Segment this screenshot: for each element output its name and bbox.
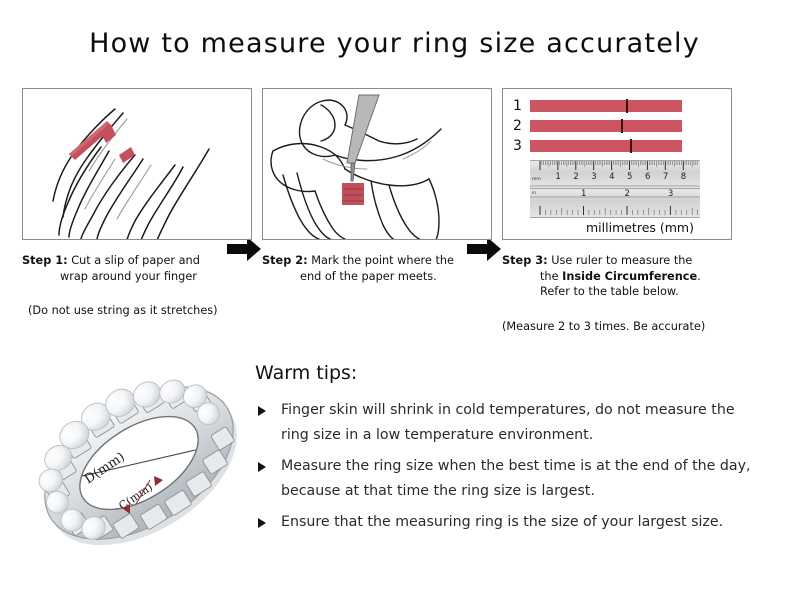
ruler-cm-number: 4 [609,173,614,182]
step-3-line2-strong: Inside Circumference [562,270,697,283]
ruler-inch-tag: in [532,191,536,196]
strip-bar [530,100,682,112]
strip-mark [626,99,628,113]
strip-row: 1 [513,98,725,114]
strip-number: 2 [513,118,530,134]
strip-row: 2 [513,118,725,134]
step-3-lead: Step 3: [502,254,548,267]
warm-tips-title: Warm tips: [255,362,765,384]
tip-text: Ensure that the measuring ring is the si… [281,514,723,530]
step-3-note: (Measure 2 to 3 times. Be accurate) [502,319,734,334]
warm-tips-section: Warm tips: Finger skin will shrink in co… [255,362,765,541]
steps-row: Step 1: Cut a slip of paper and wrap aro… [0,88,789,338]
step-3-line2-pre: the [540,270,562,283]
ruler-ticks [530,160,700,216]
step-2-line1: Mark the point where the [308,254,454,267]
ruler-illustration: 12345678 123 mm in [530,160,700,216]
ring-diagram: D(mm) C(mm) [24,358,254,573]
marked-paper-band-shape [342,183,364,205]
strip-bar [530,120,682,132]
tip-item: Ensure that the measuring ring is the si… [255,510,765,535]
ruler-cm-number: 3 [591,173,596,182]
page-title: How to measure your ring size accurately [0,28,789,59]
triangle-bullet-icon [258,518,266,528]
step-2-caption: Step 2: Mark the point where the end of … [262,253,494,284]
ruler-mm-tag: mm [532,177,541,182]
tip-item: Measure the ring size when the best time… [255,454,765,504]
measured-strips-group: 1 2 3 [513,98,725,158]
strip-mark [621,119,623,133]
ruler-cm-number: 7 [663,173,668,182]
tip-item: Finger skin will shrink in cold temperat… [255,398,765,448]
strip-number: 1 [513,98,530,114]
ruler-cm-number: 8 [681,173,686,182]
step-1-caption: Step 1: Cut a slip of paper and wrap aro… [22,253,254,284]
step-3-column: 1 2 3 [502,88,734,334]
step-1-note: (Do not use string as it stretches) [22,303,254,318]
step-1-line2: wrap around your finger [22,269,254,285]
step-1-panel [22,88,252,240]
tip-text: Measure the ring size when the best time… [281,458,751,499]
ruler-cm-number: 6 [645,173,650,182]
strip-row: 3 [513,138,725,154]
step-2-line2: end of the paper meets. [262,269,494,285]
eternity-ring-illustration: D(mm) C(mm) [24,358,254,573]
strip-mark [630,139,632,153]
strip-number: 3 [513,138,530,154]
ruler-inch-number: 3 [668,190,673,199]
step-1-lead: Step 1: [22,254,68,267]
step-3-caption: Step 3: Use ruler to measure the the Ins… [502,253,734,300]
strip-bar [530,140,682,152]
step-3-panel: 1 2 3 [502,88,732,240]
triangle-bullet-icon [258,462,266,472]
ruler-inch-number: 2 [624,190,629,199]
ruler-cm-number: 5 [627,173,632,182]
ruler-inch-number: 1 [581,190,586,199]
hand-marking-paper-with-pen-illustration [263,89,492,240]
ruler-cm-number: 2 [573,173,578,182]
step-2-column: Step 2: Mark the point where the end of … [262,88,494,284]
tip-text: Finger skin will shrink in cold temperat… [281,402,735,443]
step-2-panel [262,88,492,240]
step-1-column: Step 1: Cut a slip of paper and wrap aro… [22,88,254,318]
step-3-line3: Refer to the table below. [502,284,734,300]
step-2-lead: Step 2: [262,254,308,267]
step-3-line1: Use ruler to measure the [548,254,693,267]
hand-with-paper-slip-illustration [23,89,252,240]
step-3-line2-post: . [697,270,701,283]
triangle-bullet-icon [258,406,266,416]
ruler-unit-caption: millimetres (mm) [503,220,732,235]
ruler-cm-number: 1 [555,173,560,182]
step-1-line1: Cut a slip of paper and [68,254,200,267]
